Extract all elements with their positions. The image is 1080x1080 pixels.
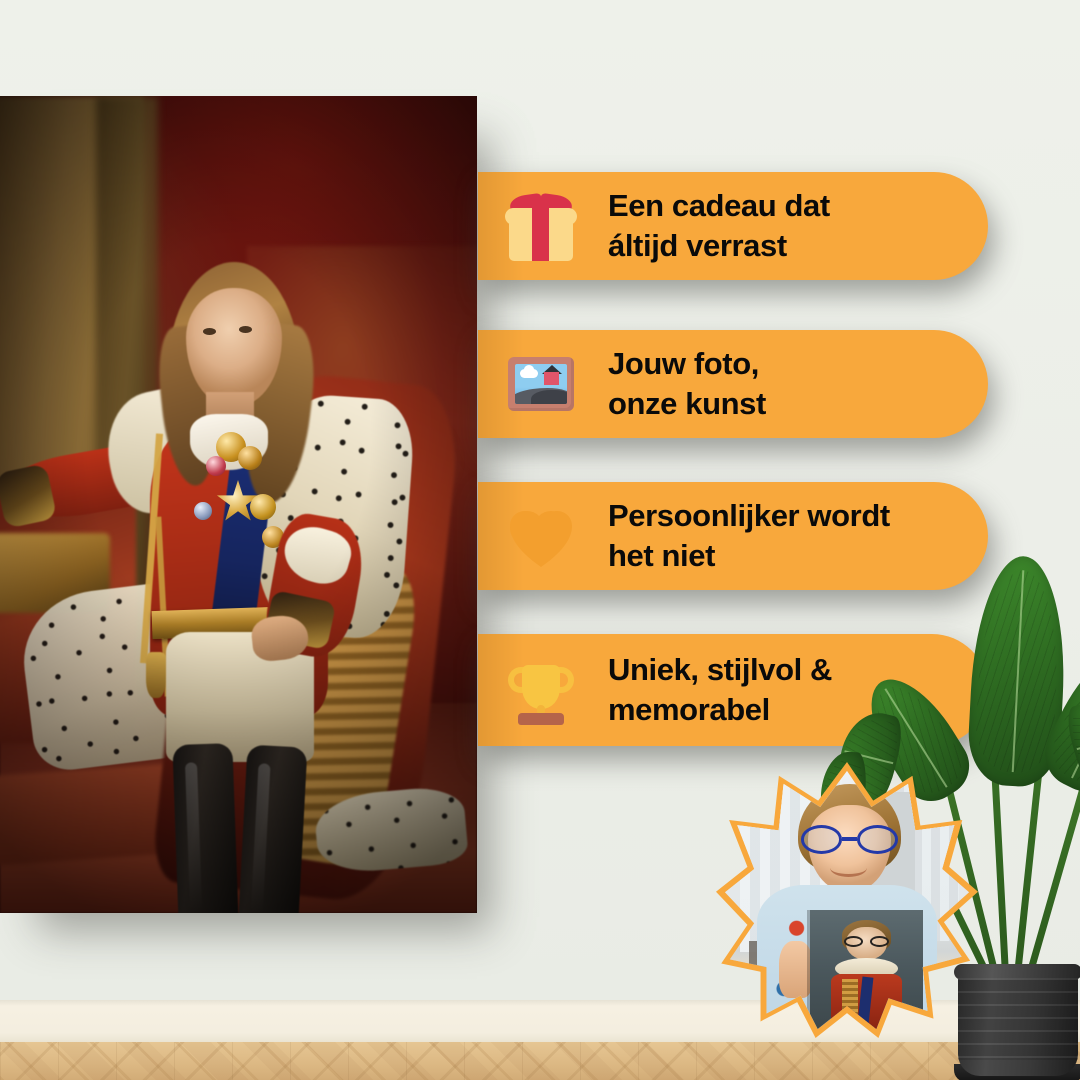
feature-pill-text: Jouw foto, onze kunst (608, 344, 766, 425)
feature-line-2: onze kunst (608, 384, 766, 424)
feature-pill-text: Een cadeau dat áltijd verrast (608, 186, 830, 267)
feature-line-1: Een cadeau dat (608, 186, 830, 226)
child-smile (830, 859, 867, 877)
held-mini-canvas (810, 910, 922, 1029)
child-thumb (779, 941, 813, 998)
gift-icon (504, 189, 578, 263)
painting-vignette (0, 96, 477, 913)
child-glasses-icon (801, 825, 899, 853)
mini-portrait-glasses-icon (844, 936, 889, 947)
feature-line-1: Uniek, stijlvol & (608, 650, 832, 690)
feature-pill-text: Uniek, stijlvol & memorabel (608, 650, 832, 731)
feature-pill-text: Persoonlijker wordt het niet (608, 496, 890, 577)
feature-line-2: het niet (608, 536, 890, 576)
customer-photo-starburst[interactable] (716, 762, 978, 1038)
feature-line-1: Jouw foto, (608, 344, 766, 384)
feature-pill-gift[interactable]: Een cadeau dat áltijd verrast (478, 172, 988, 280)
feature-line-1: Persoonlijker wordt (608, 496, 890, 536)
feature-pill-photo[interactable]: Jouw foto, onze kunst (478, 330, 988, 438)
framed-photo-icon (504, 347, 578, 421)
feature-line-2: memorabel (608, 690, 832, 730)
heart-icon (504, 499, 578, 573)
feature-line-2: áltijd verrast (608, 226, 830, 266)
trophy-icon (504, 653, 578, 727)
royal-portrait-canvas[interactable] (0, 96, 477, 913)
